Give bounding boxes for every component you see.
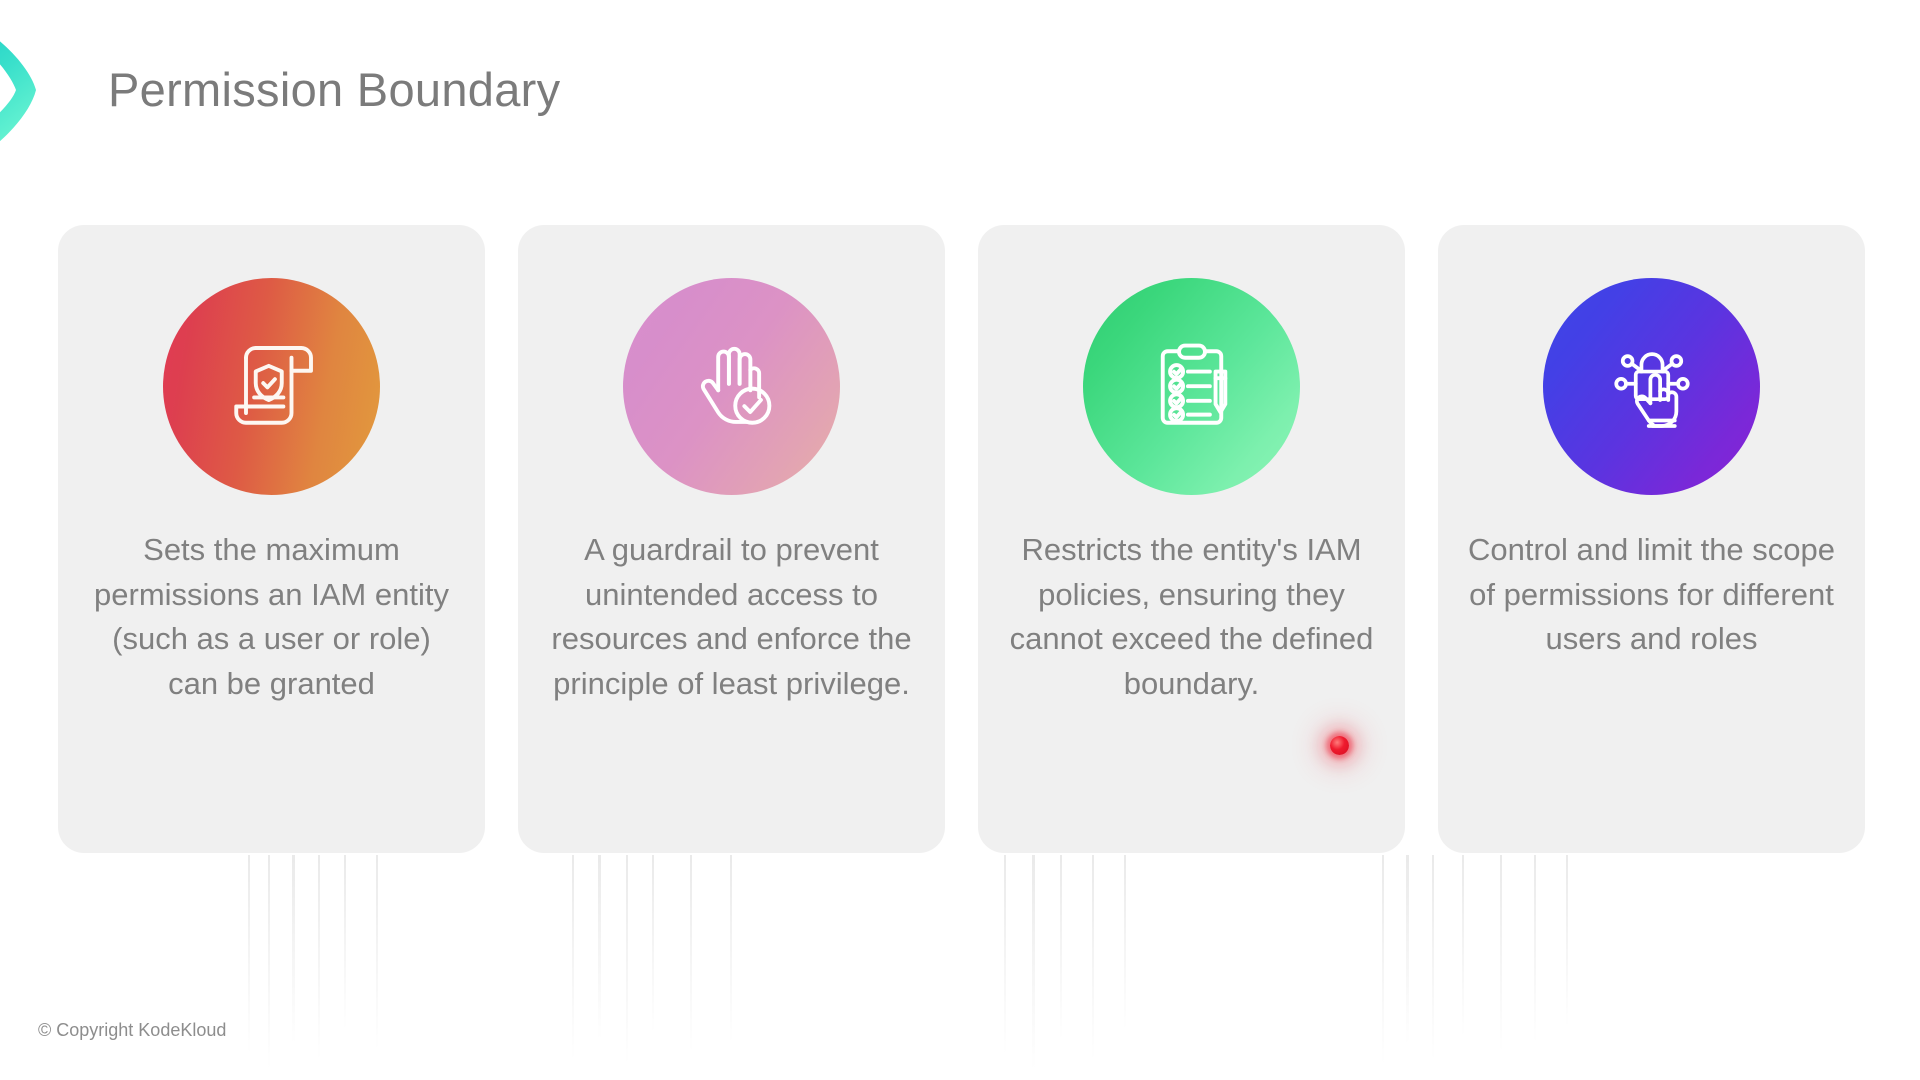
feature-card-text: Control and limit the scope of permissio… [1466, 528, 1838, 662]
footer-copyright: © Copyright KodeKloud [38, 1020, 226, 1041]
fingerprint-network-touch-icon [1543, 278, 1760, 495]
kodekloud-chevron-logo [0, 22, 52, 162]
decorative-streaks [0, 855, 1920, 1080]
feature-card-text: Restricts the entity's IAM policies, ens… [1006, 528, 1378, 707]
feature-card-4[interactable]: Control and limit the scope of permissio… [1438, 225, 1865, 853]
feature-card-3[interactable]: Restricts the entity's IAM policies, ens… [978, 225, 1405, 853]
slide-canvas: Permission Boundary Sets the maximum per… [0, 0, 1920, 1080]
feature-cards-row: Sets the maximum permissions an IAM enti… [58, 225, 1868, 853]
feature-card-2[interactable]: A guardrail to prevent unintended access… [518, 225, 945, 853]
feature-card-text: Sets the maximum permissions an IAM enti… [86, 528, 458, 707]
feature-card-1[interactable]: Sets the maximum permissions an IAM enti… [58, 225, 485, 853]
clipboard-checklist-pencil-icon [1083, 278, 1300, 495]
raised-hand-check-circle-icon [623, 278, 840, 495]
mouse-cursor-highlight [1330, 736, 1349, 755]
page-title: Permission Boundary [108, 62, 560, 117]
feature-card-text: A guardrail to prevent unintended access… [546, 528, 918, 707]
policy-scroll-shield-check-icon [163, 278, 380, 495]
